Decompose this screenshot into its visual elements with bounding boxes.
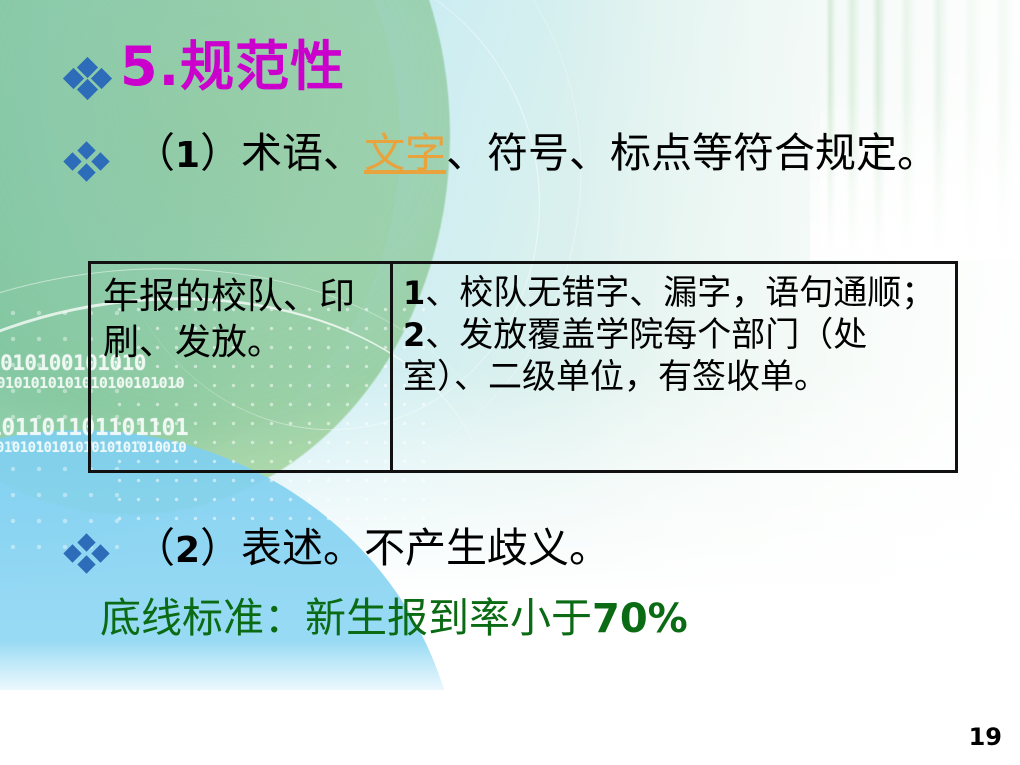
criteria-table: 年报的校队、印刷、发放。 1、校队无错字、漏字，语句通顺； 2、发放覆盖学院每个…: [88, 261, 958, 473]
table-cell-left-text: 年报的校队、印刷、发放。: [103, 274, 382, 366]
bottom-note-label: 底线标准：新生报到率小于: [100, 594, 592, 642]
point-1-row: （1）术语、文字、符号、标点等符合规定。: [66, 128, 996, 184]
diamond-cluster-bullet-icon: [66, 536, 110, 576]
point-2-text: （2）表述。不产生歧义。: [116, 524, 610, 573]
item-text: 发放覆盖学院每个部门（处室）、二级单位，有签收单。: [403, 315, 867, 397]
item-separator: 、: [425, 315, 459, 355]
table-row: 1、校队无错字、漏字，语句通顺；: [403, 272, 949, 314]
table-cell-right: 1、校队无错字、漏字，语句通顺； 2、发放覆盖学院每个部门（处室）、二级单位，有…: [393, 264, 955, 470]
point-1-highlight: 文字: [364, 129, 446, 177]
slide: 1010100101010 10101010101010100101010 10…: [0, 0, 1020, 765]
page-title: 5.规范性: [120, 38, 345, 96]
item-text: 校队无错字、漏字，语句通顺；: [459, 273, 935, 313]
slide-title-row: 5.规范性: [66, 38, 966, 100]
table-cell-left: 年报的校队、印刷、发放。: [91, 264, 393, 470]
diamond-cluster-bullet-icon: [66, 60, 110, 100]
point-2-number: 2: [175, 530, 200, 571]
item-separator: 、: [425, 273, 459, 313]
item-number: 1: [403, 274, 425, 312]
point-2-prefix: （: [134, 524, 175, 572]
slide-content: 5.规范性 （1）术语、文字、符号、标点等符合规定。 年报的校队、印刷、发放。 …: [0, 0, 1020, 765]
diamond-cluster-bullet-icon: [66, 144, 110, 184]
point-1-prefix: （: [116, 129, 175, 177]
point-1-rest: 、符号、标点等符合规定。: [446, 129, 938, 177]
point-2-row: （2）表述。不产生歧义。: [66, 524, 996, 576]
point-1-number: 1: [175, 135, 200, 176]
table-row: 2、发放覆盖学院每个部门（处室）、二级单位，有签收单。: [403, 314, 949, 398]
point-1-suffix: ）术语、: [200, 129, 364, 177]
bottom-note: 底线标准：新生报到率小于70%: [100, 594, 1000, 643]
bottom-note-value: 70%: [592, 596, 688, 642]
item-number: 2: [403, 316, 425, 354]
page-number: 19: [969, 723, 1002, 751]
point-1-text: （1）术语、文字、符号、标点等符合规定。: [116, 128, 996, 178]
point-2-suffix: ）表述。不产生歧义。: [200, 524, 610, 572]
